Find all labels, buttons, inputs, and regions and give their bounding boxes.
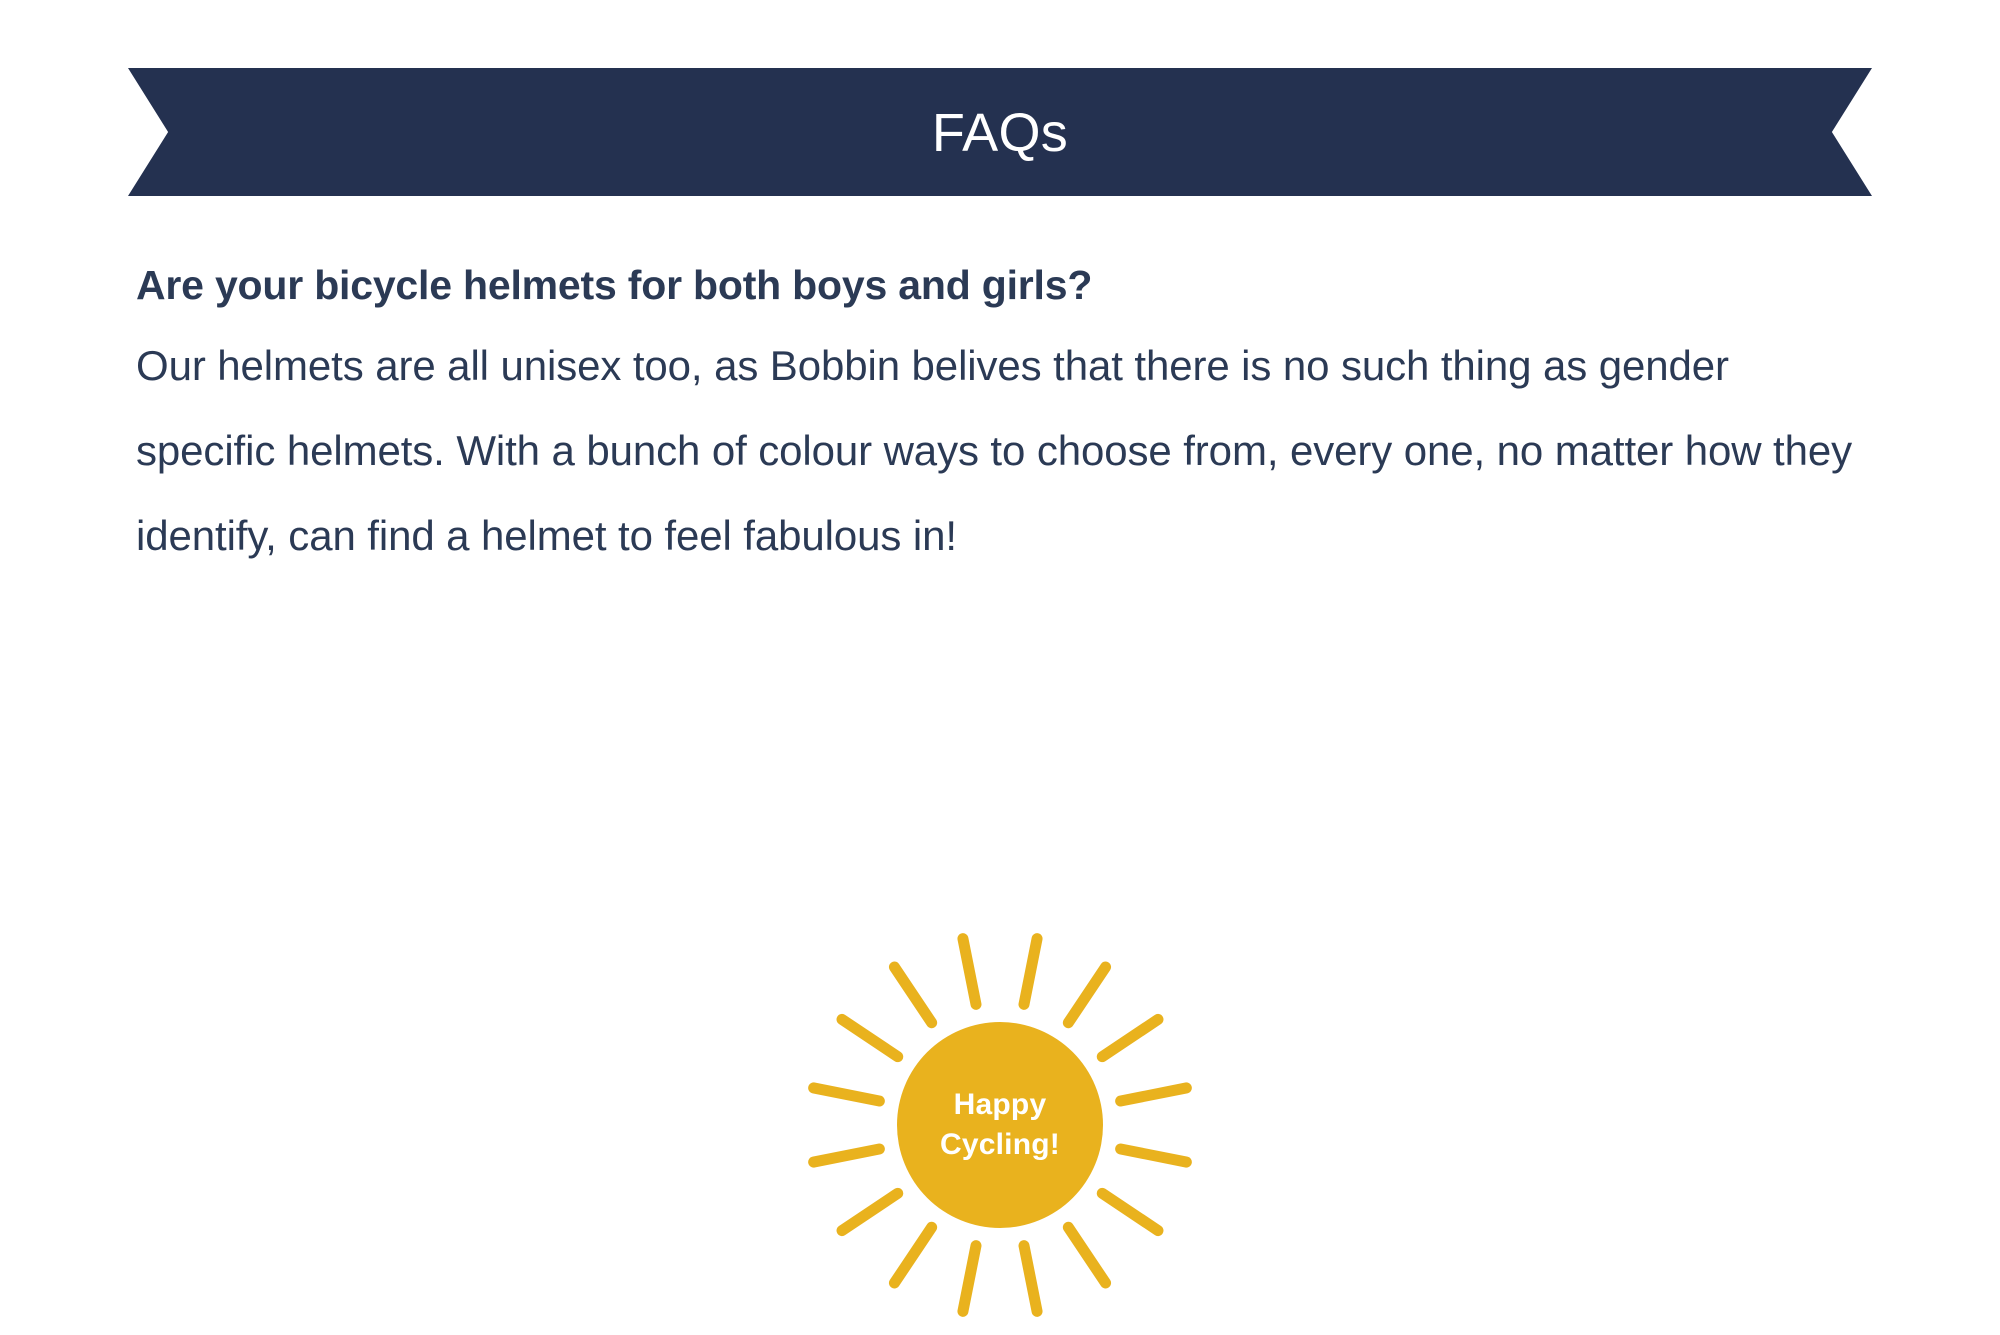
sun-ray xyxy=(1102,1193,1158,1230)
sun-ray xyxy=(842,1019,898,1056)
faq-banner: FAQs xyxy=(128,68,1872,196)
sun-ray xyxy=(894,1227,931,1283)
sun-ray xyxy=(814,1149,880,1162)
sun-ray xyxy=(1068,1227,1105,1283)
sun-ray xyxy=(963,939,976,1005)
sun-ray xyxy=(814,1088,880,1101)
sun-ray xyxy=(963,1246,976,1312)
sun-ray xyxy=(1024,939,1037,1005)
faq-content: Are your bicycle helmets for both boys a… xyxy=(136,262,1896,578)
happy-cycling-sun-badge: Happy Cycling! xyxy=(790,915,1210,1335)
sun-ray xyxy=(1121,1088,1187,1101)
faq-banner-ribbon: FAQs xyxy=(128,68,1872,196)
sun-ray xyxy=(1102,1019,1158,1056)
sun-ray xyxy=(894,967,931,1023)
faq-answer: Our helmets are all unisex too, as Bobbi… xyxy=(136,323,1866,578)
sun-icon xyxy=(790,915,1210,1335)
faq-question: Are your bicycle helmets for both boys a… xyxy=(136,262,1896,309)
sun-ray xyxy=(1068,967,1105,1023)
sun-ray xyxy=(1121,1149,1187,1162)
page-title: FAQs xyxy=(932,106,1068,160)
sun-ray xyxy=(842,1193,898,1230)
sun-ray xyxy=(1024,1246,1037,1312)
